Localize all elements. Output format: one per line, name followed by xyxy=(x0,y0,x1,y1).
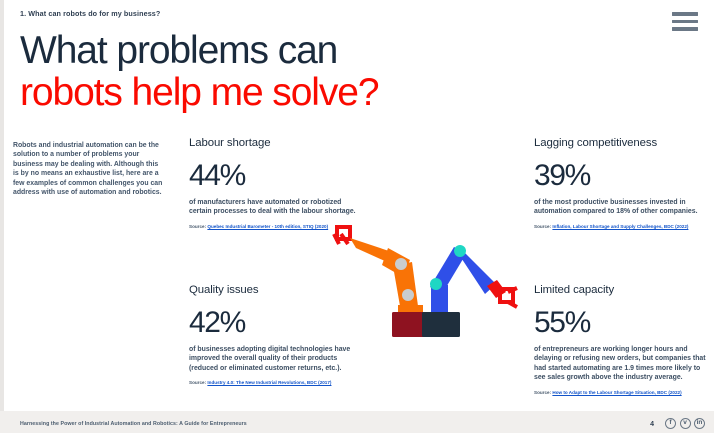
stat-description: of manufacturers have automated or robot… xyxy=(189,198,364,217)
stat-title: Limited capacity xyxy=(534,283,712,297)
hamburger-bar-3 xyxy=(672,27,698,31)
stat-source: Source: Industry 4.0: The New Industrial… xyxy=(189,379,367,386)
hamburger-bar-1 xyxy=(672,12,698,16)
social-share-group: f ᴠ in xyxy=(665,418,705,429)
linkedin-icon[interactable]: in xyxy=(694,418,705,429)
stat-description: of the most productive businesses invest… xyxy=(534,198,709,217)
stat-title: Lagging competitiveness xyxy=(534,136,709,150)
footer-document-title: Harnessing the Power of Industrial Autom… xyxy=(20,421,247,427)
stat-source-link[interactable]: Inflation, Labour Shortage and Supply Ch… xyxy=(552,224,688,229)
stat-card-lagging-competitiveness: Lagging competitiveness 39% of the most … xyxy=(534,136,709,230)
robot-arm-right xyxy=(422,245,517,337)
joint-upper-right xyxy=(454,245,466,257)
robot-base-right xyxy=(422,312,460,337)
joint-lower-left xyxy=(402,289,414,301)
stat-title: Labour shortage xyxy=(189,136,364,150)
stat-source: Source: How to Adapt to the Labour Short… xyxy=(534,389,712,396)
breadcrumb: 1. What can robots do for my business? xyxy=(20,9,160,18)
stat-source: Source: Inflation, Labour Shortage and S… xyxy=(534,223,709,230)
facebook-icon[interactable]: f xyxy=(665,418,676,429)
hamburger-bar-2 xyxy=(672,20,698,24)
twitter-icon[interactable]: ᴠ xyxy=(680,418,691,429)
stat-source-link[interactable]: Quebec Industrial Barometer - 10th editi… xyxy=(207,224,328,229)
stat-source-prefix: Source: xyxy=(534,390,552,395)
gripper-left-icon xyxy=(334,227,350,244)
stat-source-link[interactable]: Industry 4.0: The New Industrial Revolut… xyxy=(207,380,331,385)
stat-value: 44% xyxy=(189,159,364,193)
page-title-line-2: robots help me solve? xyxy=(20,72,378,114)
industrial-robot-arms-illustration xyxy=(330,222,520,340)
intro-paragraph: Robots and industrial automation can be … xyxy=(13,141,165,197)
hamburger-menu-icon[interactable] xyxy=(672,12,698,31)
stat-value: 55% xyxy=(534,306,712,340)
stat-source-prefix: Source: xyxy=(189,224,207,229)
joint-upper-left xyxy=(395,258,407,270)
joint-lower-right xyxy=(430,278,442,290)
stat-card-limited-capacity: Limited capacity 55% of entrepreneurs ar… xyxy=(534,283,712,396)
stat-source-prefix: Source: xyxy=(189,380,207,385)
robot-arm-left xyxy=(334,227,428,337)
page-number: 4 xyxy=(650,421,654,428)
stat-source-link[interactable]: How to Adapt to the Labour Shortage Situ… xyxy=(552,390,681,395)
stat-source-prefix: Source: xyxy=(534,224,552,229)
gripper-right-icon xyxy=(500,288,517,307)
left-edge-strip xyxy=(0,0,4,433)
stat-description: of businesses adopting digital technolog… xyxy=(189,345,367,373)
page-title: What problems can robots help me solve? xyxy=(20,30,378,114)
stat-description: of entrepreneurs are working longer hour… xyxy=(534,345,712,383)
stat-value: 39% xyxy=(534,159,709,193)
stat-card-labour-shortage: Labour shortage 44% of manufacturers hav… xyxy=(189,136,364,230)
page-title-line-1: What problems can xyxy=(20,30,378,72)
